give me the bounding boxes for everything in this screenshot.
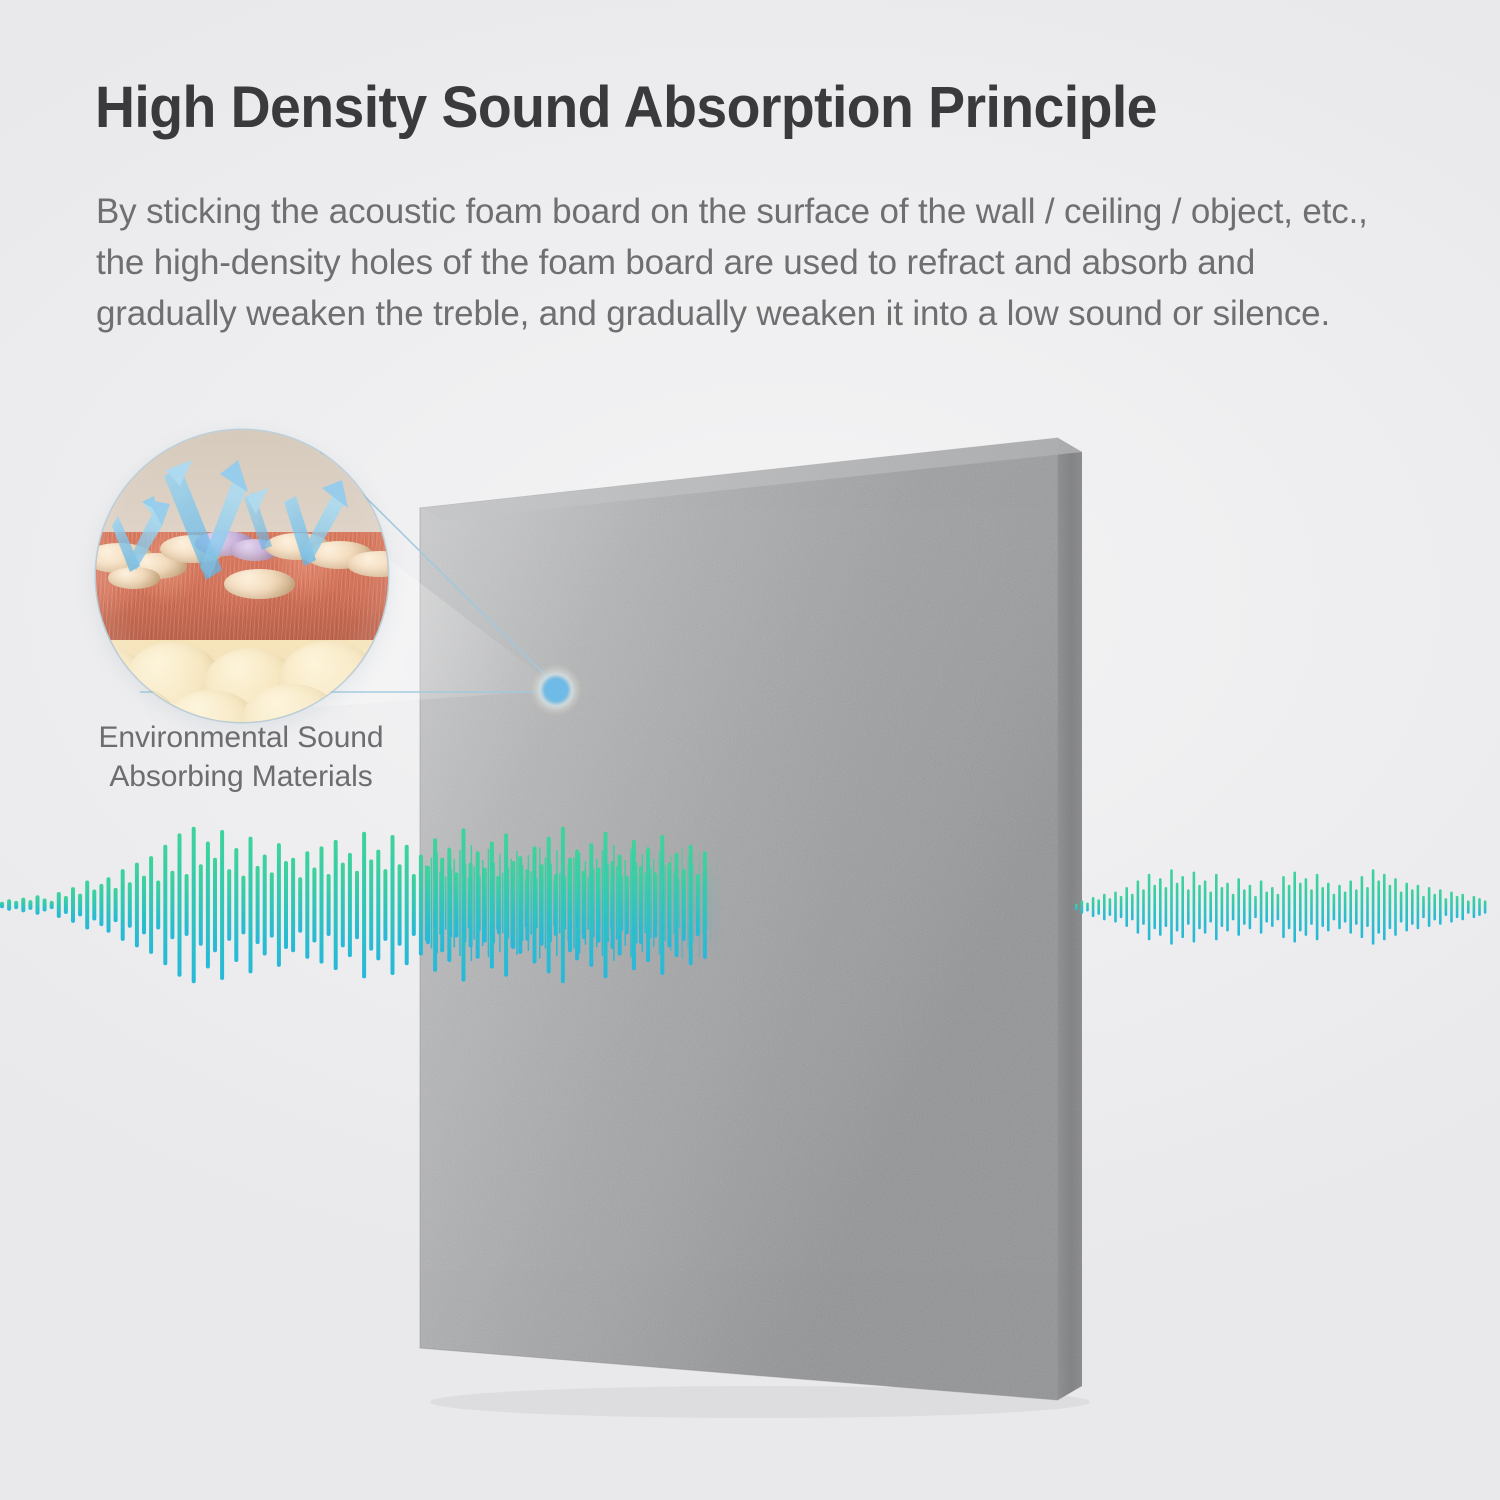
callout-caption: Environmental Sound Absorbing Materials — [76, 718, 406, 796]
magnifier-glass-highlight — [96, 430, 388, 722]
infographic-page: High Density Sound Absorption Principle … — [0, 0, 1500, 1500]
caption-line-1: Environmental Sound — [76, 718, 406, 757]
page-description: By sticking the acoustic foam board on t… — [96, 186, 1394, 339]
panel-surface-waveform — [425, 838, 725, 968]
caption-line-2: Absorbing Materials — [76, 757, 406, 796]
page-title: High Density Sound Absorption Principle — [95, 78, 1356, 139]
magnified-material-view — [96, 430, 388, 722]
attenuated-sound-waveform — [1075, 866, 1500, 948]
